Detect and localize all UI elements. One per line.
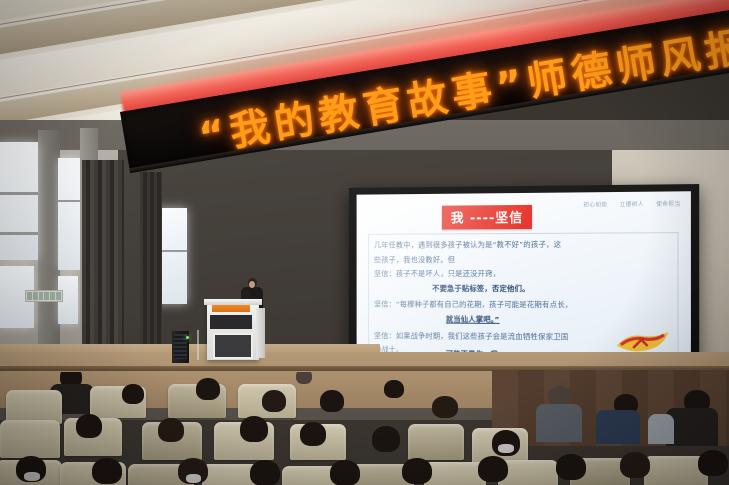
slide-title-badge: 我 ----坚信	[442, 205, 532, 230]
audience-head	[330, 460, 360, 485]
podium-side	[256, 308, 265, 358]
wall-pillar	[38, 130, 60, 360]
audience-head	[240, 416, 268, 442]
audience-head	[372, 426, 400, 452]
seat	[408, 424, 464, 460]
audience-head	[320, 390, 344, 412]
audience-head	[76, 414, 102, 438]
podium-display	[213, 333, 253, 359]
light-switch-panel[interactable]	[25, 290, 63, 302]
audience-head	[300, 422, 326, 446]
audience-head	[402, 458, 432, 484]
audience-head	[296, 372, 312, 384]
audience-head	[478, 456, 508, 482]
audience-body	[648, 414, 674, 444]
slide-line: 坚信：“每棵种子都有自己的花期，孩子可能是花期有点长，	[374, 299, 676, 311]
window	[58, 158, 80, 270]
slide-line: 坚信：孩子不是坏人，只是还没开窍，	[374, 268, 676, 280]
presenter-face	[249, 281, 255, 288]
audience-head	[196, 378, 220, 400]
slide-header-item-3: 使命担当	[656, 200, 680, 208]
audience-head	[556, 454, 586, 480]
audience-head	[92, 458, 122, 484]
slide-line: 些孩子，我也没教好。但	[374, 253, 676, 265]
window	[0, 142, 38, 260]
slide-header-item-1: 初心如炬	[583, 200, 607, 208]
auditorium-photo: “我的教育故事”师德师风报 初心如炬 立德树人 使命担当 我 ----坚信 几年…	[0, 0, 729, 485]
audience-head	[384, 380, 404, 398]
audience-head	[262, 390, 286, 412]
slide-header-item-2: 立德树人	[620, 200, 644, 208]
audience-head	[548, 386, 572, 406]
slide-header: 初心如炬 立德树人 使命担当	[583, 200, 680, 209]
audience-area	[0, 372, 729, 485]
audience-head	[122, 384, 144, 404]
audience-head	[250, 460, 280, 485]
face-mask	[498, 444, 514, 453]
audience-head	[698, 450, 728, 476]
seat	[424, 462, 486, 485]
face-mask	[24, 472, 40, 481]
audience-body	[596, 410, 640, 444]
slide-line: 几年任教中，遇到很多孩子被认为是“教不好”的孩子，这	[374, 238, 676, 251]
face-mask	[186, 474, 201, 483]
seat	[6, 390, 62, 424]
projection-screen-frame: 初心如炬 立德树人 使命担当 我 ----坚信 几年任教中，遇到很多孩子被认为是…	[349, 184, 699, 378]
window-mullion	[58, 200, 80, 202]
audience-head	[158, 418, 184, 442]
podium-accent-stripe	[212, 305, 250, 312]
slide-line-emphasis: 就当仙人掌吧。”	[374, 313, 676, 326]
seat	[0, 420, 60, 458]
window-mullion	[0, 232, 38, 235]
mic-stand	[197, 330, 199, 360]
slide-line-emphasis: 不要急于贴标签，否定他们。	[374, 283, 676, 295]
audience-head	[432, 396, 458, 418]
power-led-icon	[186, 336, 189, 339]
projection-screen: 初心如炬 立德树人 使命担当 我 ----坚信 几年任教中，遇到很多孩子被认为是…	[357, 191, 691, 370]
audience-head	[620, 452, 650, 478]
podium-panel	[210, 315, 252, 329]
window-mullion	[0, 192, 38, 195]
audience-body	[536, 404, 582, 442]
